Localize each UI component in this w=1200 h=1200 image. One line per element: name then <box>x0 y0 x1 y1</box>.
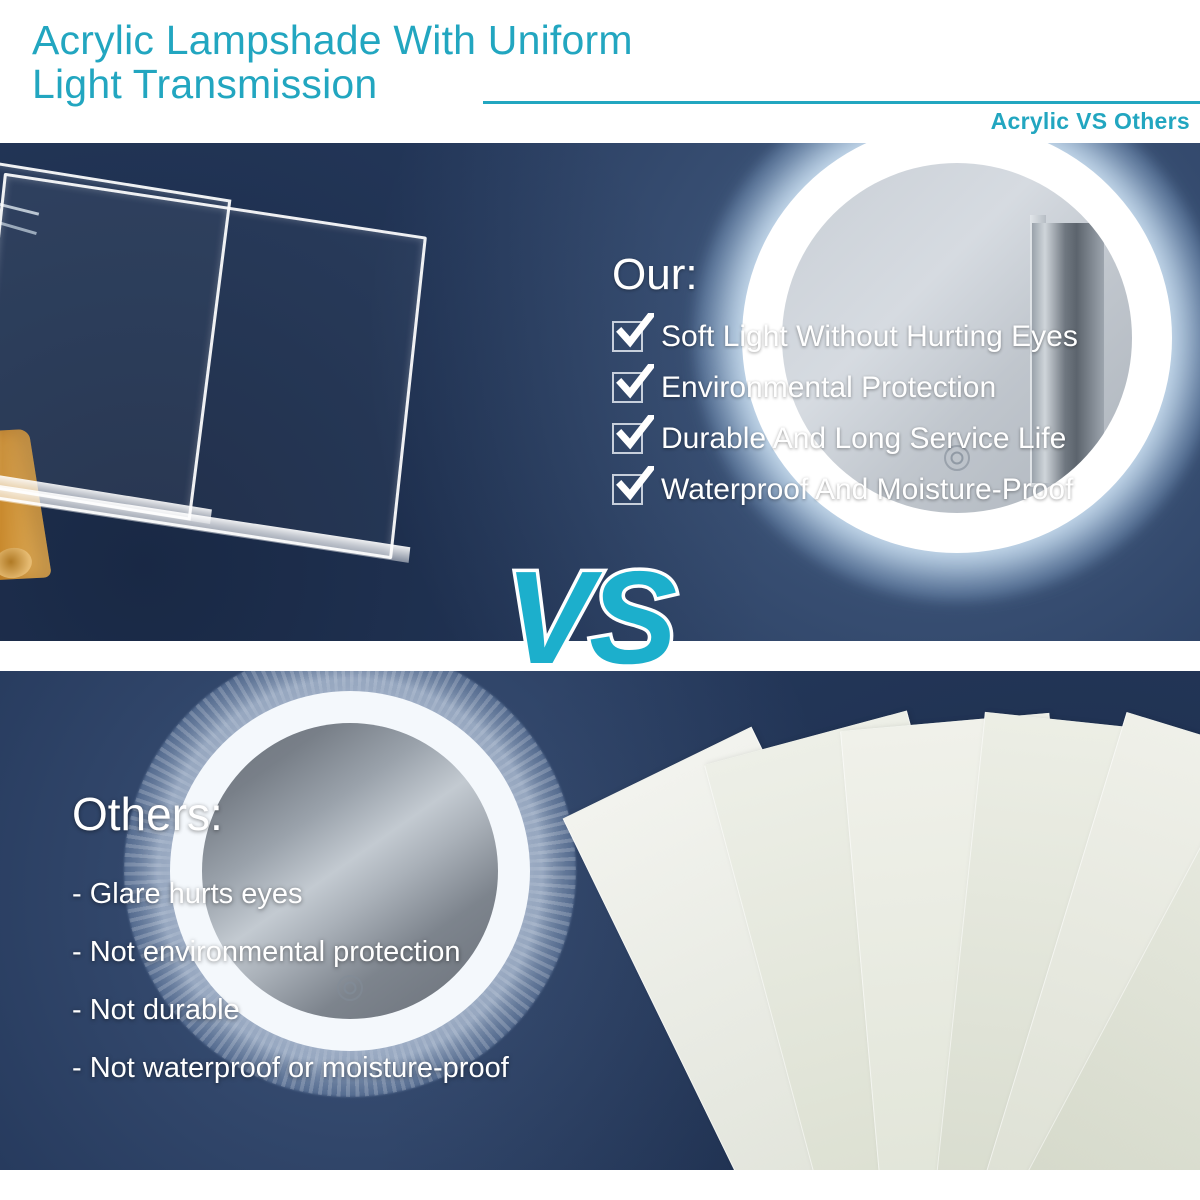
others-content: Others: - Glare hurts eyes - Not environ… <box>72 789 509 1097</box>
our-feature-list: Soft Light Without Hurting Eyes Environm… <box>612 311 1078 515</box>
others-drawback-list: - Glare hurts eyes - Not environmental p… <box>72 865 509 1097</box>
header-subtitle: Acrylic VS Others <box>991 108 1190 135</box>
banner-header: Acrylic Lampshade With Uniform Light Tra… <box>0 0 1200 143</box>
vs-badge: VS <box>505 552 673 684</box>
list-item-label: Durable And Long Service Life <box>661 422 1066 456</box>
list-item: Soft Light Without Hurting Eyes <box>612 311 1078 362</box>
list-item: Environmental Protection <box>612 362 1078 413</box>
list-item: - Not durable <box>72 981 509 1039</box>
horizontal-rule-icon <box>483 101 1200 104</box>
list-item-label: Waterproof And Moisture-Proof <box>661 473 1073 507</box>
list-item-label: Environmental Protection <box>661 371 996 405</box>
product-comparison-banner: Acrylic Lampshade With Uniform Light Tra… <box>0 0 1200 1200</box>
list-item-label: Soft Light Without Hurting Eyes <box>661 320 1078 354</box>
checkbox-checked-icon <box>612 423 643 454</box>
frosted-plastic-sheets-photo <box>660 671 1200 1170</box>
clear-acrylic-sheets-photo <box>0 163 590 623</box>
list-item: - Not waterproof or moisture-proof <box>72 1039 509 1097</box>
checkbox-checked-icon <box>612 474 643 505</box>
checkbox-checked-icon <box>612 372 643 403</box>
checkbox-checked-icon <box>612 321 643 352</box>
list-item: - Not environmental protection <box>72 923 509 981</box>
others-heading: Others: <box>72 789 509 839</box>
others-panel: Others: - Glare hurts eyes - Not environ… <box>0 671 1200 1170</box>
our-heading: Our: <box>612 251 1078 299</box>
list-item: - Glare hurts eyes <box>72 865 509 923</box>
footer-strip <box>0 1170 1200 1200</box>
list-item: Durable And Long Service Life <box>612 413 1078 464</box>
our-content: Our: Soft Light Without Hurting Eyes <box>612 251 1078 515</box>
list-item: Waterproof And Moisture-Proof <box>612 464 1078 515</box>
page-title: Acrylic Lampshade With Uniform Light Tra… <box>32 18 872 106</box>
